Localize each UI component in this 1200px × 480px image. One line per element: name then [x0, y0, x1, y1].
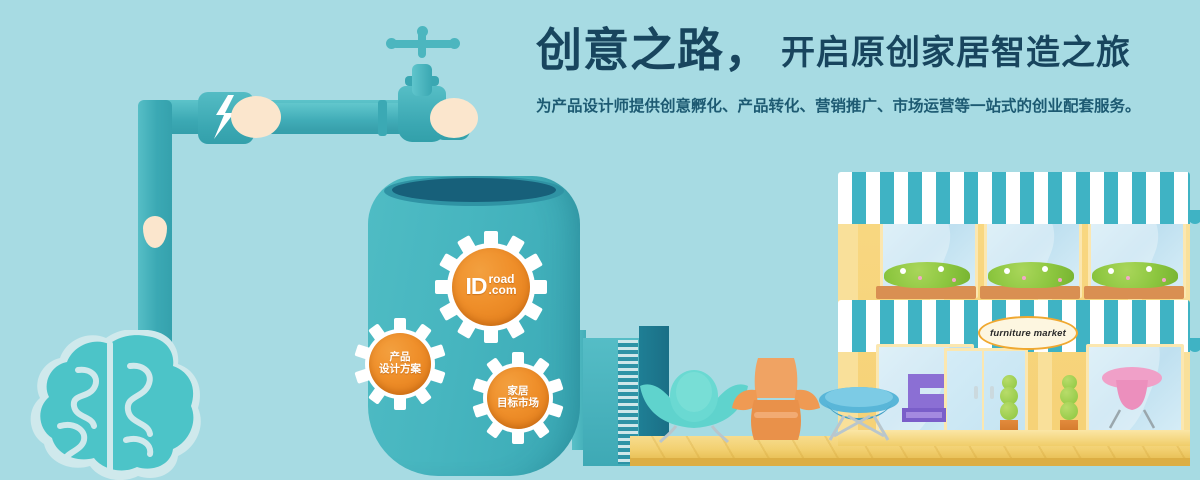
headline-sub: 开启原创家居智造之旅: [781, 34, 1131, 72]
logo-id: ID: [465, 273, 486, 299]
logo-com: .com: [488, 285, 516, 296]
water-drop-icon: [430, 98, 478, 138]
shop-sign-text: furniture market: [990, 328, 1066, 339]
blue-stool: [818, 384, 900, 444]
topiary-plant: [1000, 378, 1018, 435]
banner-illustration: 创意之路，开启原创家居智造之旅 为产品设计师提供创意孵化、产品转化、营销推广、市…: [0, 0, 1200, 480]
page-title: 创意之路，开启原创家居智造之旅: [536, 24, 1176, 79]
gear-label-line2: 设计方案: [379, 364, 421, 376]
page-subtitle: 为产品设计师提供创意孵化、产品转化、营销推广、市场运营等一站式的创业配套服务。: [536, 96, 1186, 118]
water-drop-icon: [231, 96, 281, 138]
purple-chair: [896, 368, 952, 428]
flower-bush: [1092, 262, 1178, 288]
gear-label-line2: 目标市场: [497, 398, 539, 410]
brain-icon: [30, 330, 205, 480]
gear-target-market[interactable]: 家居 目标市场: [470, 350, 566, 446]
orange-armchair: [730, 356, 822, 444]
gear-product-design[interactable]: 产品 设计方案: [352, 316, 448, 412]
flower-bush: [884, 262, 970, 288]
flower-bush: [988, 262, 1074, 288]
headline-main: 创意之路，: [536, 24, 771, 76]
pink-chair: [1100, 366, 1164, 432]
topiary-plant: [1060, 378, 1078, 435]
gear-brand-logo[interactable]: IDroad.com: [432, 228, 550, 346]
shop-sign: furniture market: [978, 316, 1078, 350]
